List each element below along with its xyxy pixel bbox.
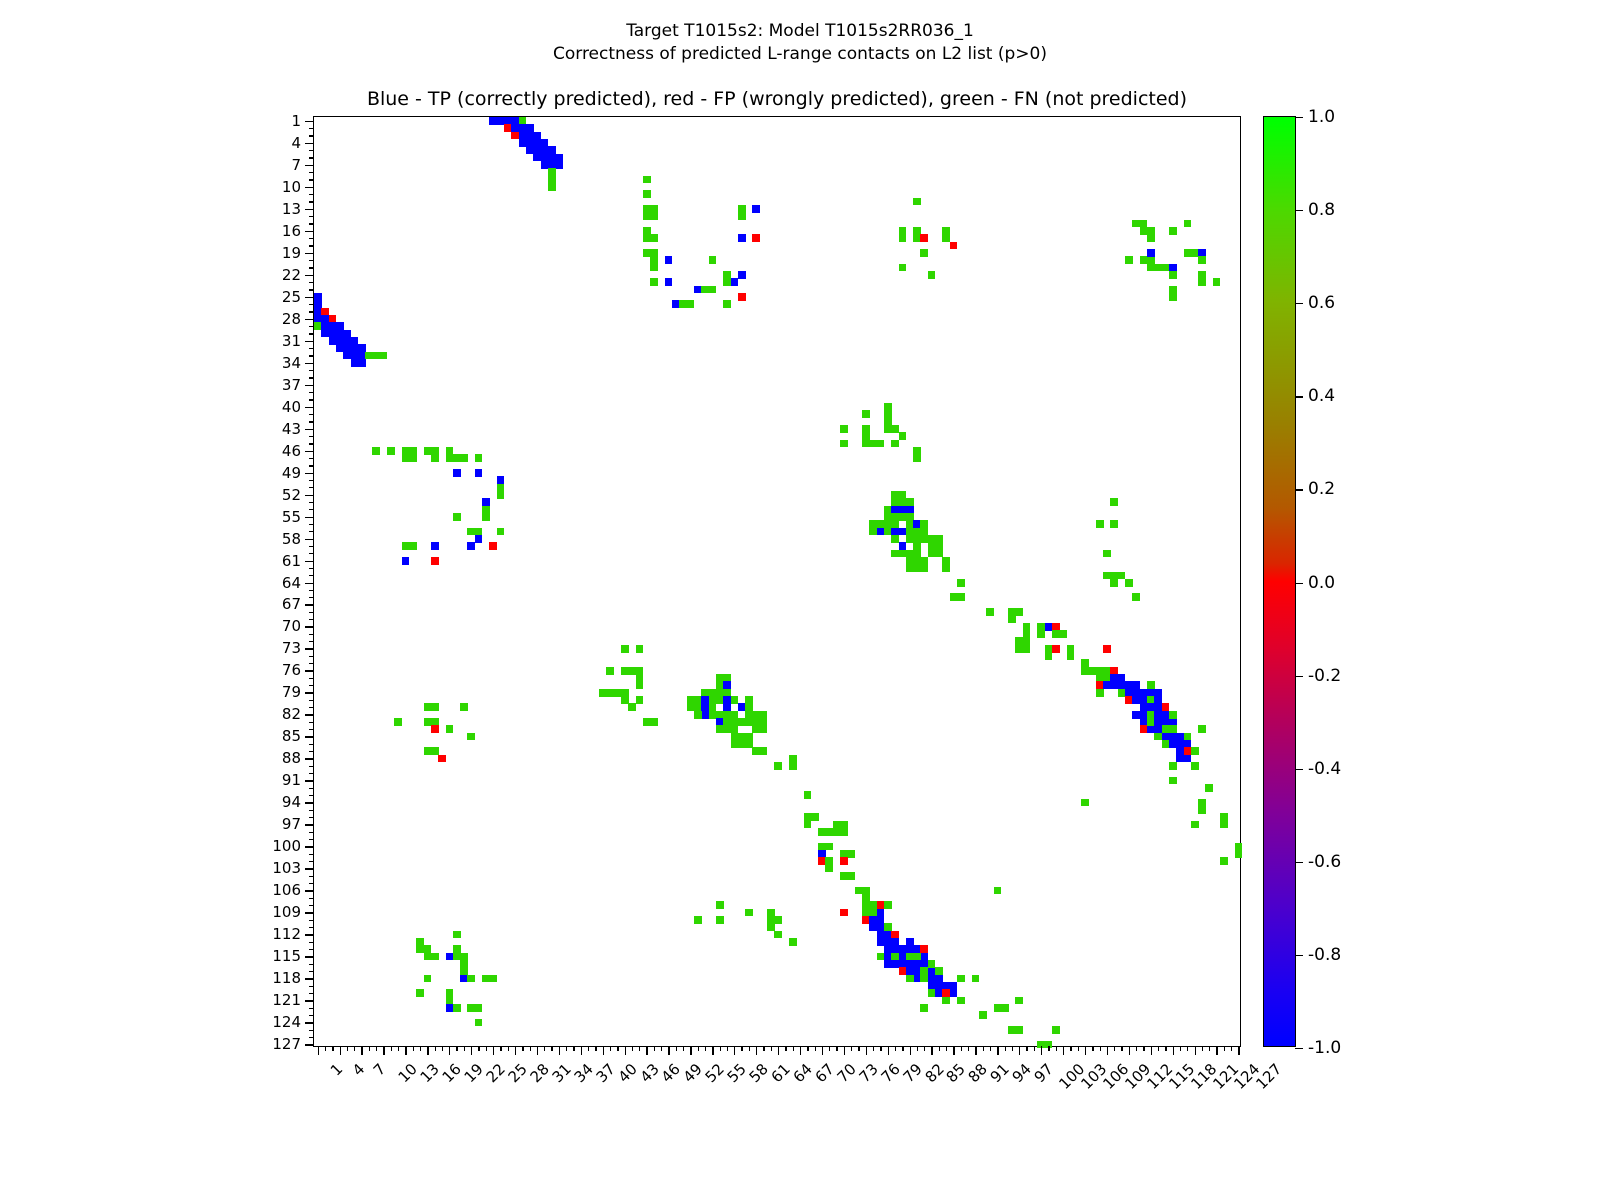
contact-cell [928, 960, 936, 968]
contact-cell [906, 975, 914, 983]
y-tick-major [305, 912, 314, 913]
y-tick-minor [309, 832, 314, 833]
contact-cell [928, 271, 936, 279]
contact-cell [1169, 762, 1177, 770]
x-tick-minor [508, 1046, 509, 1051]
y-tick-minor [309, 722, 314, 723]
contact-cell [1125, 256, 1133, 264]
y-tick-major [305, 648, 314, 649]
y-axis-tick-label: 76 [282, 661, 301, 679]
colorbar-tick-label: 0.8 [1308, 200, 1335, 220]
x-tick-minor [1092, 1046, 1093, 1051]
x-tick-major [1151, 1046, 1152, 1055]
contact-cell [862, 432, 870, 440]
contact-cell [453, 1004, 461, 1012]
y-tick-major [305, 319, 314, 320]
contact-cell [453, 945, 461, 953]
x-tick-major [888, 1046, 889, 1055]
y-axis-tick-label: 115 [272, 947, 301, 965]
x-tick-minor [705, 1046, 706, 1051]
contact-cell [891, 440, 899, 448]
contact-cell [942, 557, 950, 572]
contact-cell [891, 491, 906, 506]
contact-cell [957, 975, 965, 983]
y-axis-tick-label: 64 [282, 574, 301, 592]
y-axis-tick-label: 52 [282, 486, 301, 504]
y-tick-minor [309, 634, 314, 635]
contact-cell [1169, 286, 1177, 301]
y-tick-major [305, 561, 314, 562]
contact-cell [1067, 652, 1075, 660]
colorbar-tick-label: -0.4 [1308, 759, 1341, 779]
x-tick-minor [939, 1046, 940, 1051]
y-tick-major [305, 583, 314, 584]
y-tick-minor [309, 964, 314, 965]
y-tick-minor [309, 656, 314, 657]
x-tick-major [340, 1046, 341, 1055]
contact-cell [1118, 572, 1126, 580]
y-axis-tick-label: 70 [282, 617, 301, 635]
x-tick-minor [1180, 1046, 1181, 1051]
contact-cell [1140, 220, 1148, 235]
contact-cell [453, 454, 468, 462]
y-axis-tick-label: 13 [282, 200, 301, 218]
contact-cell [1023, 623, 1031, 638]
x-tick-minor [456, 1046, 457, 1051]
x-tick-minor [793, 1046, 794, 1051]
contact-cell [731, 278, 739, 286]
contact-cell [1015, 645, 1023, 653]
x-tick-minor [1231, 1046, 1232, 1051]
contact-cell [1132, 220, 1140, 228]
contact-cell [628, 703, 636, 711]
contact-cell [460, 703, 468, 711]
contact-cell [482, 506, 490, 521]
x-tick-minor [1056, 1046, 1057, 1051]
y-tick-major [305, 539, 314, 540]
y-tick-minor [309, 898, 314, 899]
x-tick-minor [727, 1046, 728, 1051]
contact-cell [497, 484, 505, 499]
contact-cell [825, 843, 833, 851]
contact-cell [957, 997, 965, 1005]
x-tick-minor [829, 1046, 830, 1051]
contact-cell [738, 271, 746, 279]
contact-cell [920, 1004, 928, 1012]
contact-cell [1169, 711, 1177, 719]
x-tick-major [1041, 1046, 1042, 1055]
contact-cell [365, 352, 387, 360]
x-tick-minor [486, 1046, 487, 1051]
contact-cell [1110, 498, 1118, 506]
x-tick-major [734, 1046, 735, 1055]
y-tick-major [305, 231, 314, 232]
x-tick-major [910, 1046, 911, 1055]
y-tick-major [305, 407, 314, 408]
y-axis-tick-label: 82 [282, 705, 301, 723]
x-tick-minor [544, 1046, 545, 1051]
x-tick-minor [639, 1046, 640, 1051]
contact-cell [665, 278, 673, 286]
x-tick-major [931, 1046, 932, 1055]
x-tick-minor [917, 1046, 918, 1051]
y-axis-tick-label: 43 [282, 420, 301, 438]
y-tick-major [305, 187, 314, 188]
y-tick-major [305, 209, 314, 210]
contact-cell [1191, 821, 1199, 829]
y-tick-minor [309, 480, 314, 481]
y-axis-tick-label: 31 [282, 332, 301, 350]
y-tick-minor [309, 553, 314, 554]
contact-cell [402, 557, 410, 565]
y-tick-minor [309, 861, 314, 862]
y-axis-tick-label: 46 [282, 442, 301, 460]
y-tick-minor [309, 531, 314, 532]
contact-cell [643, 176, 651, 184]
y-tick-minor [309, 766, 314, 767]
contact-cell [431, 557, 439, 565]
contact-cell [687, 696, 702, 711]
y-tick-minor [309, 377, 314, 378]
y-tick-minor [309, 201, 314, 202]
contact-cell [811, 813, 819, 821]
x-tick-minor [413, 1046, 414, 1051]
x-tick-minor [961, 1046, 962, 1051]
x-tick-minor [990, 1046, 991, 1051]
x-tick-minor [1026, 1046, 1027, 1051]
contact-cell [1220, 857, 1228, 865]
x-tick-major [449, 1046, 450, 1055]
contact-cell [1052, 645, 1060, 653]
y-axis-tick-label: 22 [282, 266, 301, 284]
contact-cell [1103, 550, 1111, 558]
y-tick-major [305, 956, 314, 957]
contact-cell [636, 674, 644, 689]
x-tick-major [537, 1046, 538, 1055]
contact-cell [1191, 747, 1199, 755]
x-tick-minor [325, 1046, 326, 1051]
y-tick-major [305, 824, 314, 825]
contact-cell [774, 762, 782, 770]
contact-cell [840, 440, 848, 448]
contact-cell [424, 703, 439, 711]
y-axis-tick-label: 49 [282, 464, 301, 482]
colorbar-tick-label: -1.0 [1308, 1038, 1341, 1058]
contact-cell [679, 300, 694, 308]
contact-cell [1052, 1026, 1060, 1034]
contact-cell [840, 828, 848, 836]
y-tick-minor [309, 949, 314, 950]
y-axis-tick-label: 79 [282, 683, 301, 701]
y-axis-tick-label: 4 [291, 134, 301, 152]
x-tick-major [712, 1046, 713, 1055]
y-axis-tick-label: 7 [291, 156, 301, 174]
contact-cell [431, 454, 439, 462]
x-tick-major [515, 1046, 516, 1055]
colorbar-tick-label: 0.0 [1308, 573, 1335, 593]
x-tick-minor [1005, 1046, 1006, 1051]
x-tick-major [361, 1046, 362, 1055]
y-axis-tick-label: 97 [282, 815, 301, 833]
y-tick-minor [309, 157, 314, 158]
contact-cell [650, 256, 658, 271]
y-axis-tick-label: 25 [282, 288, 301, 306]
x-tick-minor [1143, 1046, 1144, 1051]
y-tick-minor [309, 678, 314, 679]
y-axis-tick-label: 73 [282, 639, 301, 657]
contact-cell [1147, 227, 1155, 242]
x-tick-minor [632, 1046, 633, 1051]
contact-cell [774, 931, 782, 939]
contact-cell [1169, 271, 1177, 279]
contact-cell [950, 593, 958, 601]
contact-cell [394, 718, 402, 726]
contact-cell [950, 982, 958, 997]
x-tick-major [318, 1046, 319, 1055]
y-axis-tick-label: 91 [282, 771, 301, 789]
contact-cell [446, 725, 454, 733]
contact-cell [489, 117, 504, 125]
contact-cell [913, 542, 921, 557]
x-tick-minor [376, 1046, 377, 1051]
x-tick-major [1238, 1046, 1239, 1055]
contact-cell [745, 909, 753, 917]
contact-cell [840, 425, 848, 433]
y-tick-minor [309, 612, 314, 613]
x-tick-minor [1202, 1046, 1203, 1051]
y-tick-major [305, 890, 314, 891]
contact-cell [840, 872, 848, 880]
x-tick-major [1216, 1046, 1217, 1055]
x-tick-minor [902, 1046, 903, 1051]
y-tick-minor [309, 333, 314, 334]
colorbar-tick-label: 1.0 [1308, 107, 1335, 127]
y-tick-minor [309, 641, 314, 642]
contact-cell [920, 234, 928, 242]
colorbar-tick [1295, 489, 1303, 490]
y-axis-tick-label: 55 [282, 508, 301, 526]
contact-cell [1154, 733, 1162, 741]
contact-cell [1147, 249, 1155, 257]
contact-cell [950, 242, 958, 250]
y-axis-tick-label: 100 [272, 837, 301, 855]
x-tick-minor [763, 1046, 764, 1051]
contact-cell [467, 975, 475, 983]
y-tick-major [305, 868, 314, 869]
y-tick-major [305, 297, 314, 298]
contact-cell [1096, 520, 1104, 528]
x-tick-minor [873, 1046, 874, 1051]
x-tick-minor [1209, 1046, 1210, 1051]
contact-cell [1198, 799, 1206, 814]
x-tick-minor [1070, 1046, 1071, 1051]
contact-cell [972, 975, 980, 983]
contact-cell [1213, 278, 1221, 286]
contact-cell [467, 733, 475, 741]
y-tick-major [305, 780, 314, 781]
contact-cell [818, 828, 833, 836]
x-tick-minor [1165, 1046, 1166, 1051]
y-tick-minor [309, 326, 314, 327]
x-tick-major [559, 1046, 560, 1055]
contact-cell [409, 447, 417, 462]
y-axis-tick-label: 127 [272, 1035, 301, 1053]
contact-cell [1023, 645, 1031, 653]
contact-cell [906, 564, 928, 572]
y-tick-major [305, 517, 314, 518]
y-tick-minor [309, 216, 314, 217]
y-tick-minor [309, 575, 314, 576]
x-tick-major [427, 1046, 428, 1055]
x-tick-minor [464, 1046, 465, 1051]
contact-cell [840, 821, 848, 829]
y-tick-minor [309, 773, 314, 774]
contact-cell [1169, 227, 1177, 235]
y-axis-tick-label: 40 [282, 398, 301, 416]
y-axis-tick-label: 85 [282, 727, 301, 745]
y-tick-major [305, 758, 314, 759]
y-tick-minor [309, 795, 314, 796]
contact-map-figure: Target T1015s2: Model T1015s2RR036_1 Cor… [0, 0, 1600, 1200]
contact-cell [957, 579, 965, 587]
contact-cell [1052, 630, 1067, 638]
x-axis-tick-label: 127 [1253, 1060, 1286, 1093]
colorbar-tick [1295, 769, 1303, 770]
y-tick-minor [309, 304, 314, 305]
contact-cell [453, 513, 461, 521]
x-tick-minor [588, 1046, 589, 1051]
contact-cell [548, 154, 556, 169]
contact-cell [906, 498, 914, 506]
x-tick-minor [698, 1046, 699, 1051]
x-tick-minor [1100, 1046, 1101, 1051]
contact-cell [942, 227, 950, 242]
y-tick-major [305, 692, 314, 693]
contact-cell [738, 234, 746, 242]
contact-cell [1110, 520, 1118, 528]
contact-cell [628, 667, 636, 675]
contact-cell [467, 542, 475, 550]
x-tick-minor [332, 1046, 333, 1051]
x-tick-major [690, 1046, 691, 1055]
contact-cell [804, 791, 812, 799]
y-tick-minor [309, 150, 314, 151]
y-tick-minor [309, 128, 314, 129]
figure-title: Target T1015s2: Model T1015s2RR036_1 Cor… [0, 20, 1600, 66]
x-tick-minor [654, 1046, 655, 1051]
x-tick-minor [1078, 1046, 1079, 1051]
x-tick-major [975, 1046, 976, 1055]
contact-cell [994, 887, 1002, 895]
y-tick-major [305, 604, 314, 605]
contact-cell [767, 923, 775, 931]
contact-cell [475, 1019, 483, 1027]
y-tick-major [305, 670, 314, 671]
y-axis-tick-label: 118 [272, 969, 301, 987]
x-tick-minor [369, 1046, 370, 1051]
y-axis-tick-label: 112 [272, 925, 301, 943]
contact-cell [643, 190, 651, 198]
x-axis-tick-label: 7 [370, 1060, 389, 1079]
x-tick-major [778, 1046, 779, 1055]
x-tick-minor [347, 1046, 348, 1051]
y-tick-minor [309, 905, 314, 906]
x-tick-minor [1114, 1046, 1115, 1051]
y-tick-minor [309, 289, 314, 290]
contact-cell [913, 447, 921, 455]
contact-cell [913, 454, 921, 462]
y-tick-minor [309, 267, 314, 268]
x-tick-major [1129, 1046, 1130, 1055]
contact-cell [402, 542, 417, 550]
x-tick-minor [391, 1046, 392, 1051]
contact-cell [1176, 755, 1191, 763]
y-tick-minor [309, 245, 314, 246]
colorbar: 1.00.80.60.40.20.0-0.2-0.4-0.6-0.8-1.0 [1263, 116, 1296, 1047]
y-tick-major [305, 1022, 314, 1023]
contact-cell [650, 278, 658, 286]
contact-cell [738, 205, 746, 220]
y-tick-minor [309, 172, 314, 173]
contact-cell [899, 432, 907, 440]
y-axis-tick-label: 106 [272, 881, 301, 899]
colorbar-tick [1295, 210, 1303, 211]
contact-cell [1162, 740, 1170, 748]
contact-cell [1125, 579, 1133, 587]
y-tick-minor [309, 1008, 314, 1009]
contact-cell [1037, 630, 1045, 638]
contact-cell [825, 857, 833, 872]
contact-cell [723, 300, 731, 308]
colorbar-tick-label: -0.6 [1308, 852, 1341, 872]
y-tick-minor [309, 971, 314, 972]
x-tick-major [493, 1046, 494, 1055]
x-tick-minor [435, 1046, 436, 1051]
x-tick-major [800, 1046, 801, 1055]
x-tick-minor [1158, 1046, 1159, 1051]
y-tick-major [305, 385, 314, 386]
x-tick-minor [683, 1046, 684, 1051]
contact-cell [752, 234, 760, 242]
x-tick-minor [398, 1046, 399, 1051]
colorbar-tick [1295, 117, 1303, 118]
y-tick-minor [309, 546, 314, 547]
contact-cell [636, 696, 644, 704]
contact-cell [935, 967, 943, 975]
x-tick-minor [946, 1046, 947, 1051]
colorbar-tick [1295, 676, 1303, 677]
contact-cell [701, 286, 716, 294]
x-tick-minor [1224, 1046, 1225, 1051]
contact-cell [416, 945, 431, 953]
x-tick-minor [851, 1046, 852, 1051]
contact-cell [665, 256, 673, 264]
contact-cell [1008, 615, 1016, 623]
y-tick-minor [309, 311, 314, 312]
x-tick-major [1085, 1046, 1086, 1055]
contact-cell [1067, 645, 1075, 653]
x-tick-major [1173, 1046, 1174, 1055]
contact-cell [606, 667, 614, 675]
contact-cell [760, 711, 768, 733]
y-tick-major [305, 253, 314, 254]
colorbar-tick-label: -0.2 [1308, 666, 1341, 686]
y-tick-major [305, 143, 314, 144]
y-tick-minor [309, 854, 314, 855]
x-tick-minor [785, 1046, 786, 1051]
y-axis-tick-label: 124 [272, 1013, 301, 1031]
contact-cell [731, 740, 753, 748]
